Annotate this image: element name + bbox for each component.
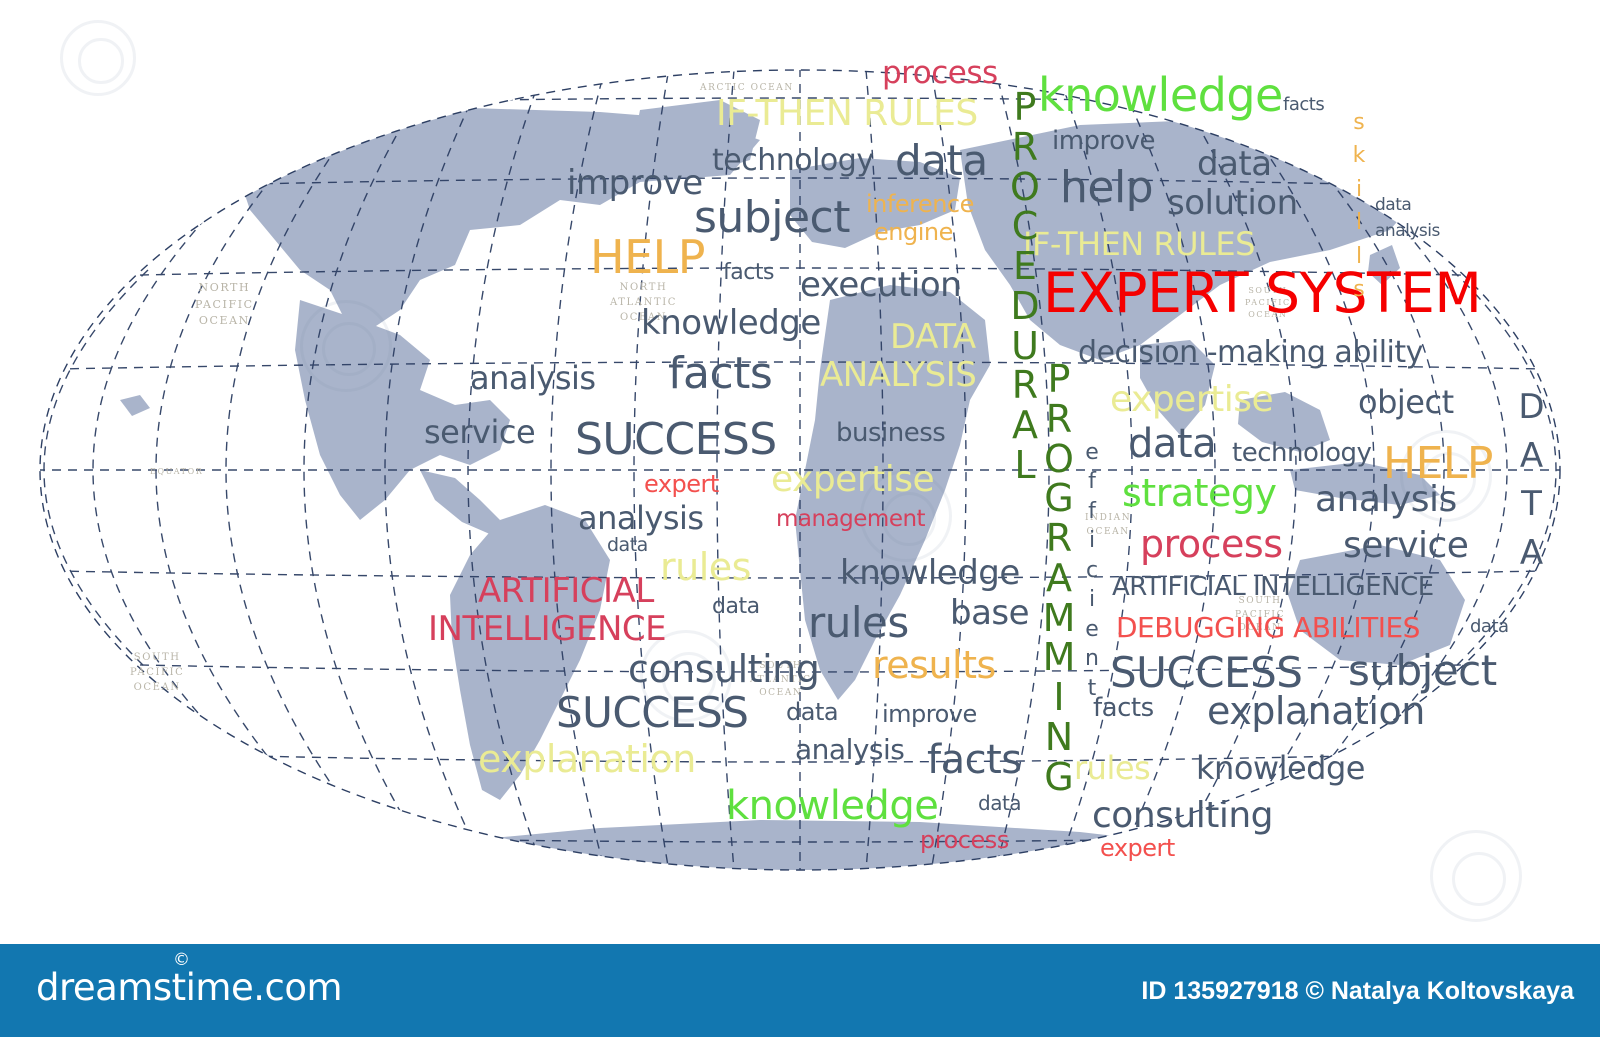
word-cloud-term: analysis (578, 502, 704, 534)
vertical-letter: G (1044, 758, 1073, 797)
word-cloud-term: improve (567, 166, 703, 200)
word-cloud-term: strategy (1122, 474, 1277, 512)
word-cloud-term: knowledge (1038, 72, 1283, 118)
word-cloud-term: process (882, 58, 998, 89)
word-cloud-term-vertical: skills (1345, 112, 1373, 313)
word-cloud-term: analysis (1375, 223, 1440, 240)
vertical-letter: A (1046, 559, 1072, 598)
word-cloud-term: data (786, 700, 838, 724)
vertical-letter: D (1518, 390, 1544, 425)
copyright-icon: © (173, 950, 190, 970)
word-cloud-term: subject (694, 196, 850, 240)
word-cloud-term: help (1060, 166, 1153, 210)
word-cloud-term: INTELLIGENCE (428, 612, 666, 646)
word-cloud-term: technology (712, 146, 874, 176)
vertical-letter: l (1356, 246, 1362, 268)
vertical-letter: R (1046, 400, 1072, 439)
word-cloud-term: management (776, 508, 925, 531)
word-cloud-term: explanation (1207, 692, 1425, 730)
word-cloud-term: data (607, 536, 648, 555)
word-cloud-term: data (1375, 197, 1411, 214)
vertical-letter: A (1012, 406, 1038, 445)
word-cloud-term: analysis (470, 362, 596, 394)
vertical-letter: M (1043, 638, 1075, 677)
vertical-letter: i (1356, 179, 1362, 201)
word-cloud-term: IF-THEN RULES (716, 96, 978, 132)
vertical-letter: T (1521, 487, 1541, 522)
word-cloud-term: analysis (1315, 482, 1457, 518)
word-cloud-term: SUCCESS (556, 692, 748, 734)
vertical-letter: C (1012, 207, 1038, 246)
word-cloud: processknowledgefactsIF-THEN RULESimprov… (0, 0, 1600, 940)
vertical-letter: A (1520, 439, 1543, 474)
word-cloud-term: ARTIFICIAL INTELLIGENCE (1112, 574, 1434, 600)
word-cloud-term: expert (1100, 836, 1175, 860)
dreamstime-logo: dreamstime.com © (36, 966, 342, 1009)
word-cloud-term: facts (927, 740, 1022, 780)
vertical-letter: D (1010, 287, 1039, 326)
vertical-letter: O (1044, 440, 1073, 479)
word-cloud-term: knowledge (726, 786, 938, 826)
dreamstime-watermark-bar: dreamstime.com © ID 135927918 © Natalya … (0, 944, 1600, 1037)
word-cloud-term: rules (660, 548, 751, 586)
word-cloud-term: consulting (1092, 798, 1273, 834)
word-cloud-term-vertical: efficient (1078, 442, 1106, 707)
vertical-letter: s (1353, 112, 1364, 134)
vertical-letter: P (1014, 88, 1036, 127)
vertical-letter: P (1048, 360, 1070, 399)
word-cloud-term: engine (874, 220, 953, 244)
vertical-letter: R (1012, 366, 1038, 405)
vertical-letter: N (1045, 718, 1073, 757)
vertical-letter: G (1044, 479, 1073, 518)
word-cloud-term: data (978, 793, 1021, 813)
word-cloud-term: business (836, 420, 945, 446)
dreamstime-logo-text: dreamstime.com (36, 966, 342, 1009)
word-cloud-term: service (1343, 528, 1468, 564)
word-cloud-term-vertical: DATA (1510, 390, 1553, 585)
word-cloud-term: SUCCESS (575, 418, 777, 462)
word-cloud-term: knowledge (1196, 752, 1365, 784)
vertical-letter: i (1089, 530, 1095, 552)
word-cloud-term: improve (882, 702, 977, 726)
word-cloud-term: base (950, 596, 1029, 630)
vertical-letter: e (1085, 442, 1098, 464)
word-cloud-term: rules (1074, 752, 1150, 784)
vertical-letter: R (1012, 128, 1038, 167)
word-cloud-term-vertical: PROGRAMMING (1035, 360, 1083, 797)
vertical-letter: t (1088, 678, 1096, 700)
image-credit: ID 135927918 © Natalya Koltovskaya (1141, 977, 1574, 1006)
word-cloud-term: expertise (1110, 382, 1273, 418)
vertical-letter: s (1353, 279, 1364, 301)
word-cloud-term: DATA (890, 320, 976, 354)
word-cloud-term: IF-THEN RULES (1023, 228, 1255, 260)
vertical-letter: e (1085, 619, 1098, 641)
vertical-letter: l (1356, 212, 1362, 234)
vertical-letter: L (1014, 446, 1035, 485)
word-cloud-term: rules (808, 602, 909, 644)
word-cloud-term: expert (644, 472, 719, 496)
word-cloud-term: expertise (771, 462, 934, 498)
word-cloud-term: technology (1232, 440, 1371, 466)
word-cloud-term: ARTIFICIAL (478, 574, 654, 608)
vertical-letter: R (1046, 519, 1072, 558)
word-cloud-term: data (712, 596, 760, 618)
vertical-letter: n (1085, 648, 1098, 670)
word-cloud-term: improve (1052, 128, 1155, 154)
word-cloud-term: ANALYSIS (820, 358, 976, 392)
word-cloud-term: decision -making ability (1078, 338, 1423, 368)
word-cloud-term: process (920, 828, 1009, 852)
word-cloud-term: object (1358, 386, 1454, 418)
vertical-letter: I (1053, 678, 1064, 717)
word-cloud-term: facts (668, 352, 772, 396)
word-cloud-term: knowledge (641, 306, 821, 340)
word-cloud-term: data (1128, 424, 1216, 464)
word-cloud-term: facts (1283, 96, 1324, 114)
word-cloud-term: knowledge (840, 556, 1020, 590)
image-canvas: NORTH PACIFIC OCEANNORTH ATLANTIC OCEANA… (0, 0, 1600, 1037)
word-cloud-term: EXPERT SYSTEM (1043, 266, 1481, 321)
word-cloud-term: facts (723, 262, 774, 284)
word-cloud-term: results (872, 646, 996, 684)
vertical-letter: E (1013, 247, 1037, 286)
word-cloud-term: SUCCESS (1110, 652, 1302, 694)
word-cloud-term: HELP (590, 234, 705, 280)
word-cloud-term: subject (1348, 650, 1497, 692)
word-cloud-term: execution (800, 268, 961, 302)
word-cloud-term: consulting (628, 650, 819, 688)
vertical-letter: k (1353, 145, 1365, 167)
word-cloud-term: data (1197, 147, 1272, 181)
vertical-letter: O (1010, 168, 1039, 207)
word-cloud-term: solution (1167, 186, 1298, 220)
word-cloud-term: process (1140, 525, 1283, 563)
vertical-letter: f (1088, 501, 1095, 523)
vertical-letter: c (1086, 560, 1098, 582)
word-cloud-term: explanation (478, 740, 696, 778)
word-cloud-term: analysis (795, 736, 904, 764)
vertical-letter: f (1088, 471, 1095, 493)
word-cloud-term: inference (866, 192, 974, 216)
vertical-letter: A (1520, 536, 1543, 571)
vertical-letter: M (1043, 599, 1075, 638)
word-cloud-term: DEBUGGING ABILITIES (1116, 614, 1420, 642)
word-cloud-term: data (895, 140, 988, 182)
word-cloud-term: data (1470, 618, 1509, 636)
vertical-letter: i (1089, 589, 1095, 611)
word-cloud-term: service (424, 416, 535, 448)
